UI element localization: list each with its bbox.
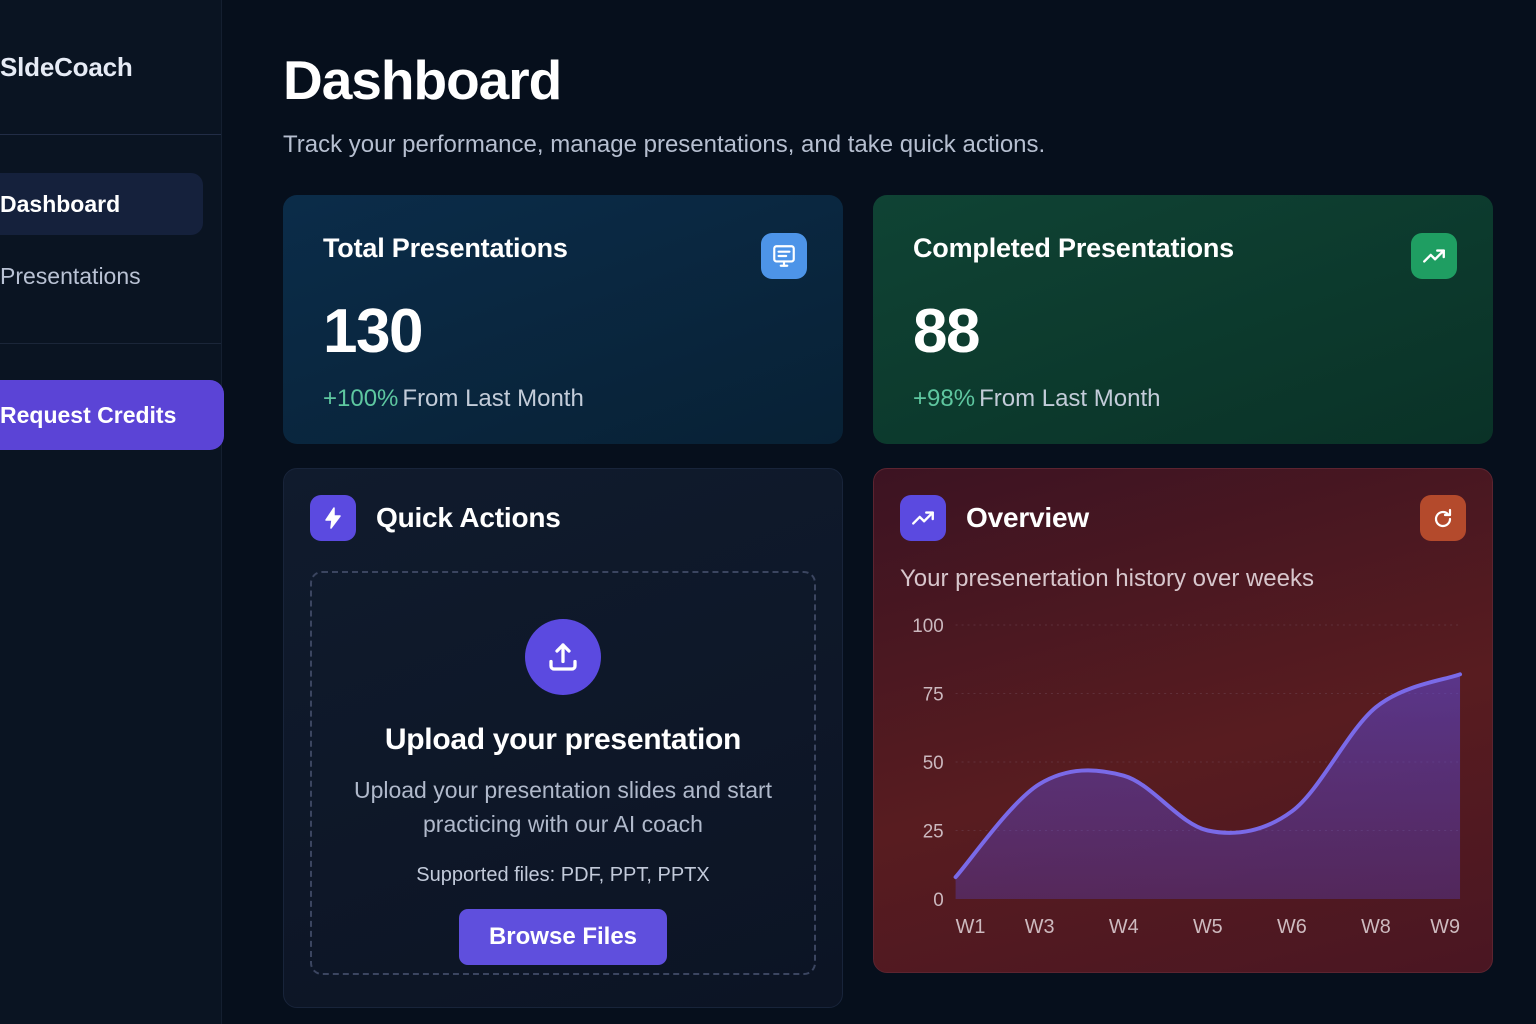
quick-actions-header: Quick Actions — [310, 495, 816, 541]
overview-header: Overview — [900, 495, 1466, 541]
svg-text:75: 75 — [923, 684, 944, 705]
svg-text:W4: W4 — [1109, 916, 1139, 938]
overview-card: Overview Your presenertation history ove… — [873, 468, 1493, 973]
svg-text:W5: W5 — [1193, 916, 1223, 938]
dashboard-app: SldeCoach Dashboard Presentations Reques… — [0, 0, 1536, 1024]
svg-text:0: 0 — [933, 890, 943, 911]
upload-dropzone[interactable]: Upload your presentation Upload your pre… — [310, 571, 816, 975]
dashboard-grid: Total Presentations 130 +100%From Last M… — [283, 195, 1490, 1008]
sidebar-item-dashboard[interactable]: Dashboard — [0, 173, 203, 235]
svg-text:W3: W3 — [1025, 916, 1055, 938]
quick-actions-card: Quick Actions Upload your presentation U… — [283, 468, 843, 1008]
quick-actions-title: Quick Actions — [376, 502, 561, 534]
svg-text:25: 25 — [923, 821, 944, 842]
app-brand: SldeCoach — [0, 0, 203, 134]
refresh-icon[interactable] — [1420, 495, 1466, 541]
sidebar-credits-section: Request Credits — [0, 344, 203, 450]
stat-card-header: Total Presentations — [323, 233, 807, 279]
presentation-board-icon — [761, 233, 807, 279]
svg-text:W6: W6 — [1277, 916, 1307, 938]
stat-card-header: Completed Presentations — [913, 233, 1457, 279]
browse-files-button[interactable]: Browse Files — [459, 909, 667, 965]
svg-text:W9: W9 — [1430, 916, 1460, 938]
main-content: Dashboard Track your performance, manage… — [222, 0, 1536, 1024]
stat-card-completed-presentations: Completed Presentations 88 +98%From Last… — [873, 195, 1493, 444]
stat-card-value: 130 — [323, 301, 807, 363]
sidebar-item-presentations[interactable]: Presentations — [0, 245, 203, 307]
upload-icon — [525, 619, 601, 695]
svg-text:50: 50 — [923, 753, 944, 774]
stat-card-delta-percent: +100% — [323, 385, 398, 412]
page-subtitle: Track your performance, manage presentat… — [283, 131, 1490, 159]
zap-icon — [310, 495, 356, 541]
request-credits-button[interactable]: Request Credits — [0, 380, 224, 450]
stat-card-title: Total Presentations — [323, 233, 568, 264]
overview-subtitle: Your presenertation history over weeks — [900, 565, 1466, 593]
svg-text:W8: W8 — [1361, 916, 1391, 938]
stat-card-title: Completed Presentations — [913, 233, 1234, 264]
overview-chart: 1007550250 W1W3W4W5W6W8W9 — [900, 607, 1466, 947]
trending-up-icon — [1411, 233, 1457, 279]
stat-card-delta-label: From Last Month — [979, 385, 1160, 412]
sidebar: SldeCoach Dashboard Presentations Reques… — [0, 0, 222, 1024]
sidebar-item-dashboard-label: Dashboard — [0, 191, 120, 218]
dropzone-supported-files: Supported files: PDF, PPT, PPTX — [416, 864, 709, 887]
stat-card-value: 88 — [913, 301, 1457, 363]
chart-x-axis-labels: W1W3W4W5W6W8W9 — [956, 916, 1460, 938]
stat-card-delta: +100%From Last Month — [323, 385, 807, 413]
overview-header-left: Overview — [900, 495, 1089, 541]
stat-card-delta: +98%From Last Month — [913, 385, 1457, 413]
trending-up-icon — [900, 495, 946, 541]
dropzone-description: Upload your presentation slides and star… — [353, 773, 773, 842]
page-title: Dashboard — [283, 52, 1490, 110]
svg-text:100: 100 — [912, 616, 943, 637]
svg-text:W1: W1 — [956, 916, 986, 938]
stat-card-delta-label: From Last Month — [402, 385, 583, 412]
chart-y-axis-labels: 1007550250 — [912, 616, 943, 911]
stat-card-total-presentations: Total Presentations 130 +100%From Last M… — [283, 195, 843, 444]
stat-card-delta-percent: +98% — [913, 385, 975, 412]
sidebar-nav: Dashboard Presentations — [0, 135, 203, 307]
dropzone-title: Upload your presentation — [385, 723, 741, 757]
overview-title: Overview — [966, 502, 1089, 534]
overview-chart-svg: 1007550250 W1W3W4W5W6W8W9 — [900, 607, 1466, 947]
chart-area-fill — [956, 674, 1460, 899]
sidebar-item-presentations-label: Presentations — [0, 263, 141, 290]
